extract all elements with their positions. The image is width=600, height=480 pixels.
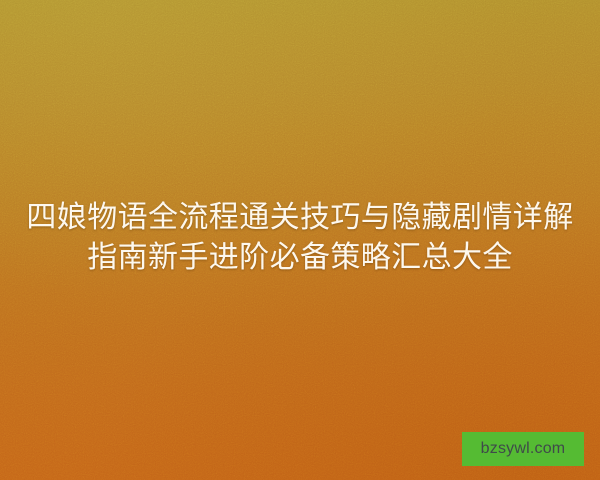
title-line-2: 指南新手进阶必备策略汇总大全 [10,238,590,278]
title-line-1: 四娘物语全流程通关技巧与隐藏剧情详解 [10,198,590,238]
watermark-badge[interactable]: bzsywl.com [462,432,584,466]
banner-image: 四娘物语全流程通关技巧与隐藏剧情详解 指南新手进阶必备策略汇总大全 bzsywl… [0,0,600,480]
watermark-label: bzsywl.com [481,441,566,457]
page-title: 四娘物语全流程通关技巧与隐藏剧情详解 指南新手进阶必备策略汇总大全 [0,198,600,278]
